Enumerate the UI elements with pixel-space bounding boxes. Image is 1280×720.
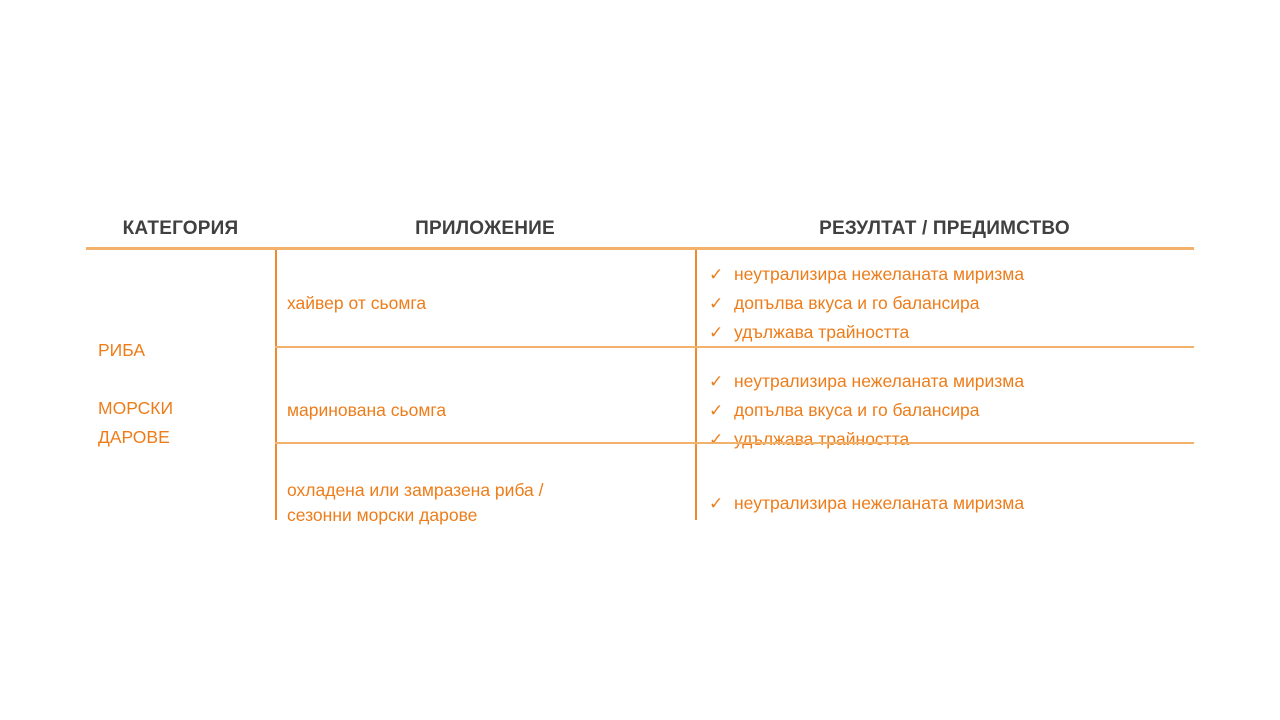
check-icon: ✓: [709, 289, 734, 318]
row-separator: [275, 346, 1194, 348]
table-header-row: КАТЕГОРИЯ ПРИЛОЖЕНИЕ РЕЗУЛТАТ / ПРЕДИМСТ…: [86, 210, 1194, 240]
table-row: хайвер от сьомга ✓ неутрализира нежелана…: [86, 250, 1194, 357]
benefit-item: ✓ неутрализира нежеланата миризма: [709, 489, 1188, 518]
benefits-table: КАТЕГОРИЯ ПРИЛОЖЕНИЕ РЕЗУЛТАТ / ПРЕДИМСТ…: [86, 210, 1194, 542]
benefit-text: неутрализира нежеланата миризма: [734, 489, 1024, 518]
row-application-cell: маринована сьомга: [275, 357, 695, 464]
column-header-application: ПРИЛОЖЕНИЕ: [275, 218, 695, 240]
check-icon: ✓: [709, 396, 734, 425]
row-category-cell: [86, 357, 275, 464]
check-icon: ✓: [709, 367, 734, 396]
row-category-cell: [86, 464, 275, 542]
slide-canvas: КАТЕГОРИЯ ПРИЛОЖЕНИЕ РЕЗУЛТАТ / ПРЕДИМСТ…: [0, 0, 1280, 720]
benefit-text: допълва вкуса и го балансира: [734, 396, 980, 425]
benefit-item: ✓ неутрализира нежеланата миризма: [709, 367, 1188, 396]
check-icon: ✓: [709, 318, 734, 347]
row-separator: [275, 442, 1194, 444]
benefit-text: неутрализира нежеланата миризма: [734, 260, 1024, 289]
check-icon: ✓: [709, 425, 734, 454]
row-result-cell: ✓ неутрализира нежеланата миризма ✓ допъ…: [695, 357, 1194, 464]
row-result-cell: ✓ неутрализира нежеланата миризма: [695, 464, 1194, 542]
column-header-category: КАТЕГОРИЯ: [86, 218, 275, 240]
benefit-item: ✓ удължава трайността: [709, 425, 1188, 454]
check-icon: ✓: [709, 489, 734, 518]
benefit-item: ✓ удължава трайността: [709, 318, 1188, 347]
row-result-cell: ✓ неутрализира нежеланата миризма ✓ допъ…: [695, 250, 1194, 357]
table-row: охладена или замразена риба / сезонни мо…: [86, 464, 1194, 542]
benefit-text: допълва вкуса и го балансира: [734, 289, 980, 318]
benefit-text: неутрализира нежеланата миризма: [734, 367, 1024, 396]
row-application-cell: хайвер от сьомга: [275, 250, 695, 357]
column-header-result: РЕЗУЛТАТ / ПРЕДИМСТВО: [695, 218, 1194, 240]
table-row: маринована сьомга ✓ неутрализира нежелан…: [86, 357, 1194, 464]
table-body: РИБА МОРСКИ ДАРОВЕ хайвер от сьомга ✓ не…: [86, 250, 1194, 542]
benefit-item: ✓ допълва вкуса и го балансира: [709, 396, 1188, 425]
row-category-cell: [86, 250, 275, 357]
row-application-cell: охладена или замразена риба / сезонни мо…: [275, 464, 695, 542]
benefit-item: ✓ неутрализира нежеланата миризма: [709, 260, 1188, 289]
benefit-item: ✓ допълва вкуса и го балансира: [709, 289, 1188, 318]
check-icon: ✓: [709, 260, 734, 289]
benefit-text: удължава трайността: [734, 318, 909, 347]
benefit-text: удължава трайността: [734, 425, 909, 454]
